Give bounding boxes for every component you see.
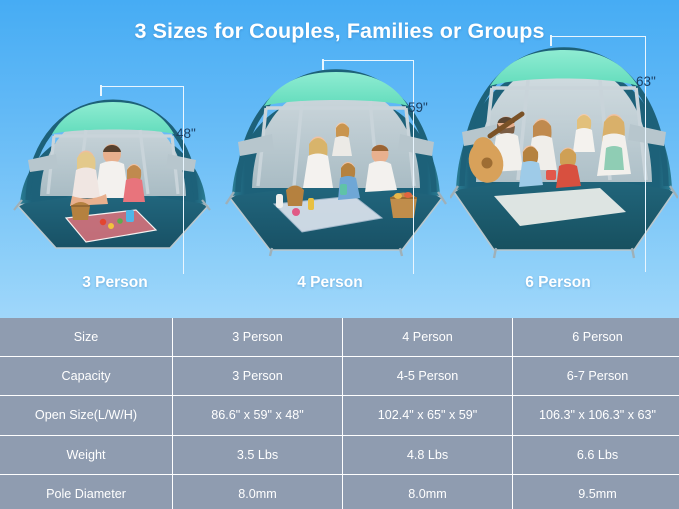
tent-card-6-person: 63": [450, 44, 678, 278]
spec-table-body: Size 3 Person 4 Person 6 Person Capacity…: [0, 318, 679, 509]
tent-label-4-person: 4 Person: [240, 274, 420, 292]
row-label-capacity: Capacity: [0, 357, 173, 396]
cell-open-size-3: 86.6" x 59" x 48": [173, 396, 343, 435]
dimension-label-6-person: 63": [636, 74, 656, 89]
cell-pole-diameter-3: 8.0mm: [173, 474, 343, 509]
row-label-pole-diameter: Pole Diameter: [0, 474, 173, 509]
table-header-3-person: 3 Person: [173, 318, 343, 357]
tent-card-3-person: 48": [8, 78, 218, 278]
tent-showcase: 48": [0, 62, 679, 318]
tent-label-6-person: 6 Person: [468, 274, 648, 292]
cell-pole-diameter-4: 8.0mm: [343, 474, 513, 509]
table-row: Weight 3.5 Lbs 4.8 Lbs 6.6 Lbs: [0, 435, 679, 474]
tent-illustration-4-person: [222, 58, 450, 278]
dimension-label-3-person: 48": [176, 126, 196, 141]
cell-weight-6: 6.6 Lbs: [513, 435, 679, 474]
tent-label-3-person: 3 Person: [30, 274, 200, 292]
cell-weight-3: 3.5 Lbs: [173, 435, 343, 474]
specification-table: Size 3 Person 4 Person 6 Person Capacity…: [0, 318, 679, 509]
cell-pole-diameter-6: 9.5mm: [513, 474, 679, 509]
table-row-header: Size 3 Person 4 Person 6 Person: [0, 318, 679, 357]
cell-capacity-6: 6-7 Person: [513, 357, 679, 396]
cell-capacity-4: 4-5 Person: [343, 357, 513, 396]
table-header-4-person: 4 Person: [343, 318, 513, 357]
cell-weight-4: 4.8 Lbs: [343, 435, 513, 474]
tent-illustration-3-person: [8, 78, 218, 278]
tent-canopy-top-3: [52, 102, 174, 134]
row-label-weight: Weight: [0, 435, 173, 474]
table-header-6-person: 6 Person: [513, 318, 679, 357]
table-row: Capacity 3 Person 4-5 Person 6-7 Person: [0, 357, 679, 396]
page-title: 3 Sizes for Couples, Families or Groups: [134, 19, 544, 44]
cell-capacity-3: 3 Person: [173, 357, 343, 396]
table-row: Open Size(L/W/H) 86.6" x 59" x 48" 102.4…: [0, 396, 679, 435]
cell-open-size-6: 106.3" x 106.3" x 63": [513, 396, 679, 435]
tent-card-4-person: 59": [222, 58, 450, 278]
cell-open-size-4: 102.4" x 65" x 59": [343, 396, 513, 435]
table-row: Pole Diameter 8.0mm 8.0mm 9.5mm: [0, 474, 679, 509]
dimension-label-4-person: 59": [408, 100, 428, 115]
row-label-open-size: Open Size(L/W/H): [0, 396, 173, 435]
table-header-size: Size: [0, 318, 173, 357]
product-comparison-infographic: 3 Sizes for Couples, Families or Groups …: [0, 0, 679, 509]
